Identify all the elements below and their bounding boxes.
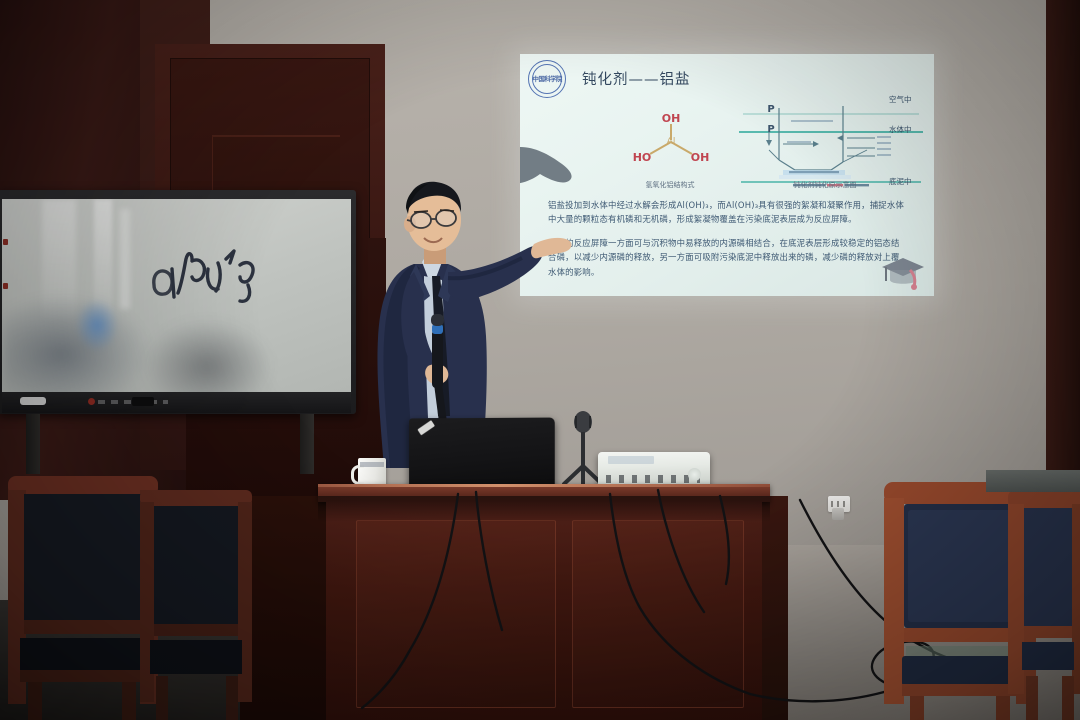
diagram-label-water: 水体中 <box>889 124 912 135</box>
svg-text:HO: HO <box>633 151 652 164</box>
chemical-caption: 氢氧化铝结构式 <box>608 180 732 190</box>
whiteboard-leg <box>300 414 314 474</box>
chair-left-back[interactable] <box>132 486 262 720</box>
whiteboard-tray[interactable] <box>2 392 351 413</box>
projector-vent <box>608 456 654 464</box>
svg-text:OH: OH <box>691 151 710 164</box>
svg-text:Al: Al <box>667 137 676 147</box>
whiteboard-screen[interactable] <box>2 199 351 392</box>
projector-lens-icon <box>688 468 701 481</box>
projector[interactable] <box>598 452 710 488</box>
podium-top-highlight <box>318 484 770 487</box>
laptop-logo-icon <box>417 420 435 435</box>
chemical-structure-diagram: Al OH HO OH <box>616 110 726 178</box>
svg-text:P: P <box>767 124 774 135</box>
laptop[interactable] <box>409 418 555 491</box>
slide-paragraph-2: 形成的反应屏障一方面可与沉积物中易释放的内源磷相结合，在底泥表层形成较稳定的铝态… <box>548 236 908 279</box>
whiteboard-handwriting <box>148 239 288 319</box>
right-wood-wall <box>1046 0 1080 470</box>
board-status-leds <box>3 239 9 339</box>
projector-ports[interactable] <box>606 475 700 483</box>
podium-shadow <box>318 496 770 522</box>
institution-logo-icon: 中国科学院 <box>528 60 566 98</box>
whiteboard-leg <box>26 414 40 474</box>
mug-band <box>360 462 384 467</box>
marker-pen[interactable] <box>20 397 46 405</box>
podium-panel <box>356 520 556 708</box>
lecture-room-scene: 中国科学院 钝化剂——铝盐 Al OH HO OH 氢氧化铝结构式 <box>0 0 1080 720</box>
chair-right-back[interactable] <box>1004 484 1080 720</box>
slide-paragraph-1: 铝盐投加到水体中经过水解会形成Al(OH)₃，而Al(OH)₃具有很强的絮凝和凝… <box>548 198 908 227</box>
slide-title: 钝化剂——铝盐 <box>582 68 691 89</box>
power-plug[interactable] <box>832 508 844 520</box>
svg-text:OH: OH <box>662 112 681 125</box>
podium-panel <box>572 520 744 708</box>
logo-text: 中国科学院 <box>532 76 561 82</box>
svg-text:P: P <box>767 104 774 115</box>
blue-reflection <box>76 299 118 351</box>
eraser[interactable] <box>132 397 154 406</box>
slide-body-text: 铝盐投加到水体中经过水解会形成Al(OH)₃，而Al(OH)₃具有很强的絮凝和凝… <box>548 198 908 279</box>
power-led <box>88 398 95 405</box>
outlet-slots-icon <box>831 501 847 507</box>
side-table <box>986 470 1080 492</box>
diagram-label-air: 空气中 <box>889 94 912 105</box>
graduation-cap-icon <box>880 252 926 292</box>
smart-whiteboard[interactable] <box>0 190 356 414</box>
dark-reflection <box>142 319 272 392</box>
diagram-caption: 钝化剂钝化原示意图 <box>750 180 900 190</box>
